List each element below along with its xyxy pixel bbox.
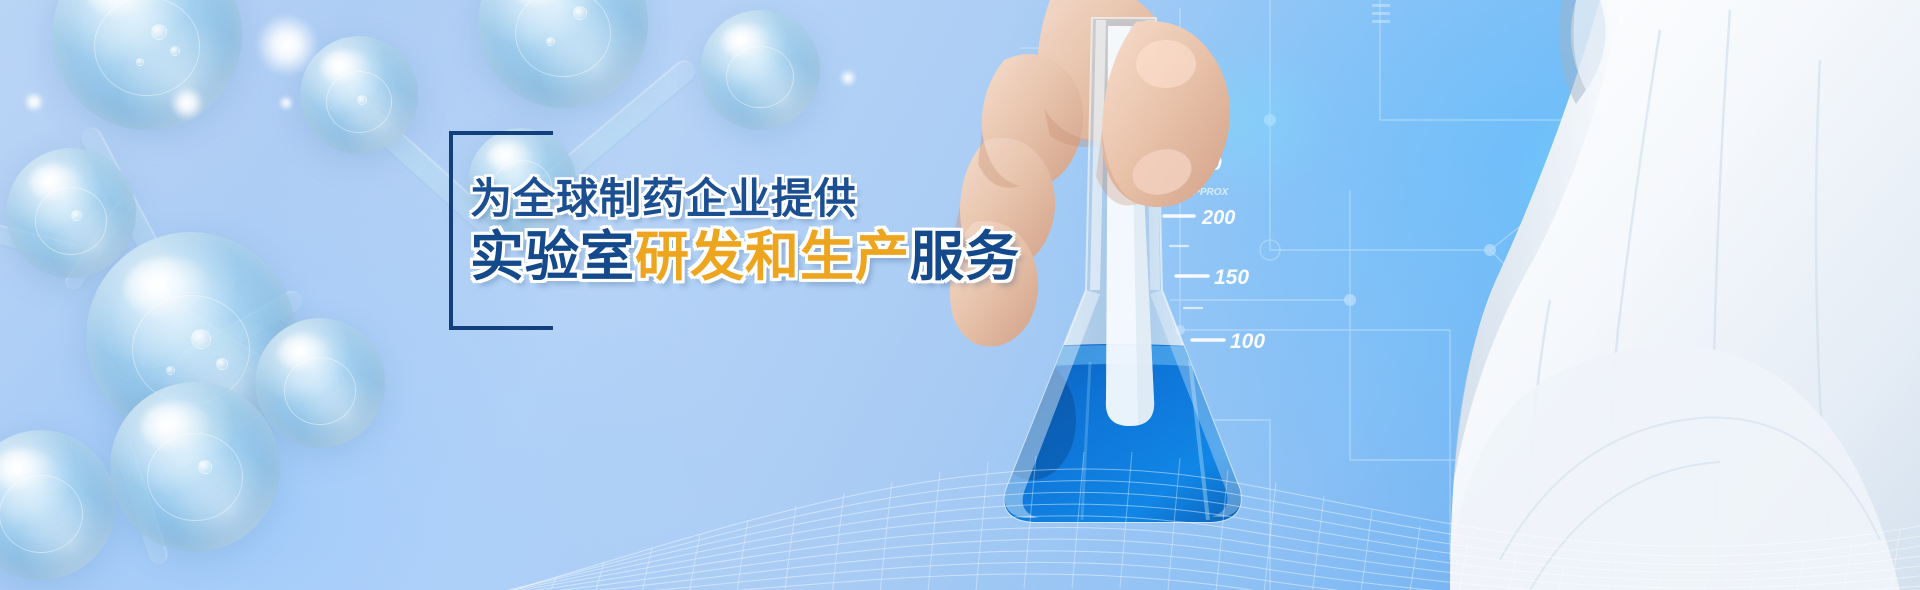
glow-dot-icon	[24, 92, 44, 112]
bracket-left-bar	[449, 131, 453, 330]
glow-dot-icon	[256, 14, 318, 76]
molecule-atom	[700, 10, 820, 130]
headline-segment-rnd-production: 研发和生产	[635, 227, 910, 287]
flask-graduation-150: 150	[1214, 266, 1249, 289]
headline-line-2: 实验室研发和生产服务	[470, 230, 1170, 284]
hero-banner: 250 200 150 100 APPROX	[0, 0, 1920, 590]
glow-dot-icon	[170, 86, 204, 120]
molecule-bond	[0, 218, 89, 266]
bracket-bottom-bar	[449, 326, 553, 330]
glow-dot-icon	[279, 96, 293, 110]
molecule-atom	[300, 36, 418, 154]
molecule-bond	[63, 193, 139, 294]
molecule-atom	[478, 0, 648, 108]
glow-dot-icon	[840, 70, 856, 86]
molecule-bond	[76, 124, 175, 284]
bracket-top-bar	[449, 131, 553, 135]
headline-segment-lab: 实验室	[470, 227, 635, 287]
flask-graduation-200: 200	[1201, 207, 1235, 229]
wireframe-wave-decoration	[0, 330, 1920, 590]
molecule-atom	[52, 0, 242, 130]
headline-block: 为全球制药企业提供 实验室研发和生产服务	[470, 178, 1170, 284]
headline-segment-services: 服务	[910, 227, 1020, 287]
headline-line-1: 为全球制药企业提供	[470, 178, 1170, 220]
molecule-atom	[6, 148, 136, 278]
